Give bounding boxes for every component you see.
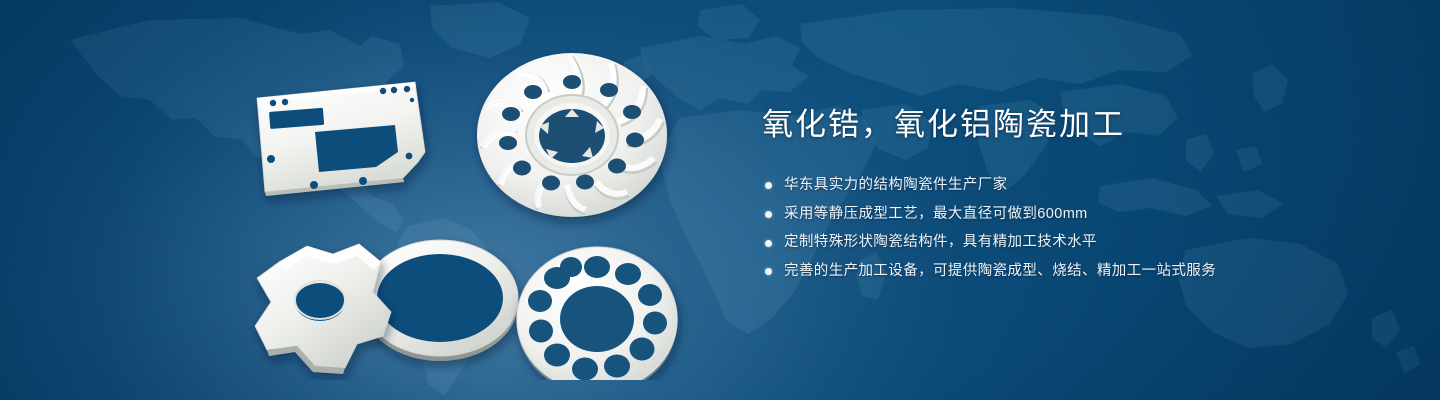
- bullet-dot-icon: [765, 182, 772, 189]
- banner-copy: 氧化锆，氧化铝陶瓷加工 华东具实力的结构陶瓷件生产厂家 采用等静压成型工艺，最大…: [762, 106, 1382, 290]
- ceramic-machined-plate: [257, 82, 425, 196]
- product-hero-banner: 氧化锆，氧化铝陶瓷加工 华东具实力的结构陶瓷件生产厂家 采用等静压成型工艺，最大…: [0, 0, 1440, 400]
- bullet-dot-icon: [765, 240, 772, 247]
- ceramic-products-image: [235, 40, 705, 380]
- list-item: 定制特殊形状陶瓷结构件，具有精加工技术水平: [765, 232, 1382, 254]
- bullet-dot-icon: [765, 211, 772, 218]
- feature-list: 华东具实力的结构陶瓷件生产厂家 采用等静压成型工艺，最大直径可做到600mm 定…: [765, 175, 1382, 283]
- ceramic-valve-plate: [517, 247, 677, 380]
- list-item: 华东具实力的结构陶瓷件生产厂家: [765, 175, 1382, 197]
- ceramic-cross-plate: [255, 244, 391, 374]
- feature-text: 完善的生产加工设备，可提供陶瓷成型、烧结、精加工一站式服务: [784, 261, 1216, 283]
- ceramic-ring: [362, 240, 518, 361]
- feature-text: 定制特殊形状陶瓷结构件，具有精加工技术水平: [784, 232, 1097, 254]
- list-item: 完善的生产加工设备，可提供陶瓷成型、烧结、精加工一站式服务: [765, 261, 1382, 283]
- feature-text: 采用等静压成型工艺，最大直径可做到600mm: [784, 204, 1088, 226]
- list-item: 采用等静压成型工艺，最大直径可做到600mm: [765, 204, 1382, 226]
- bullet-dot-icon: [765, 268, 772, 275]
- feature-text: 华东具实力的结构陶瓷件生产厂家: [784, 175, 1008, 197]
- page-title: 氧化锆，氧化铝陶瓷加工: [762, 106, 1382, 145]
- ceramic-impeller-disc: [477, 53, 667, 217]
